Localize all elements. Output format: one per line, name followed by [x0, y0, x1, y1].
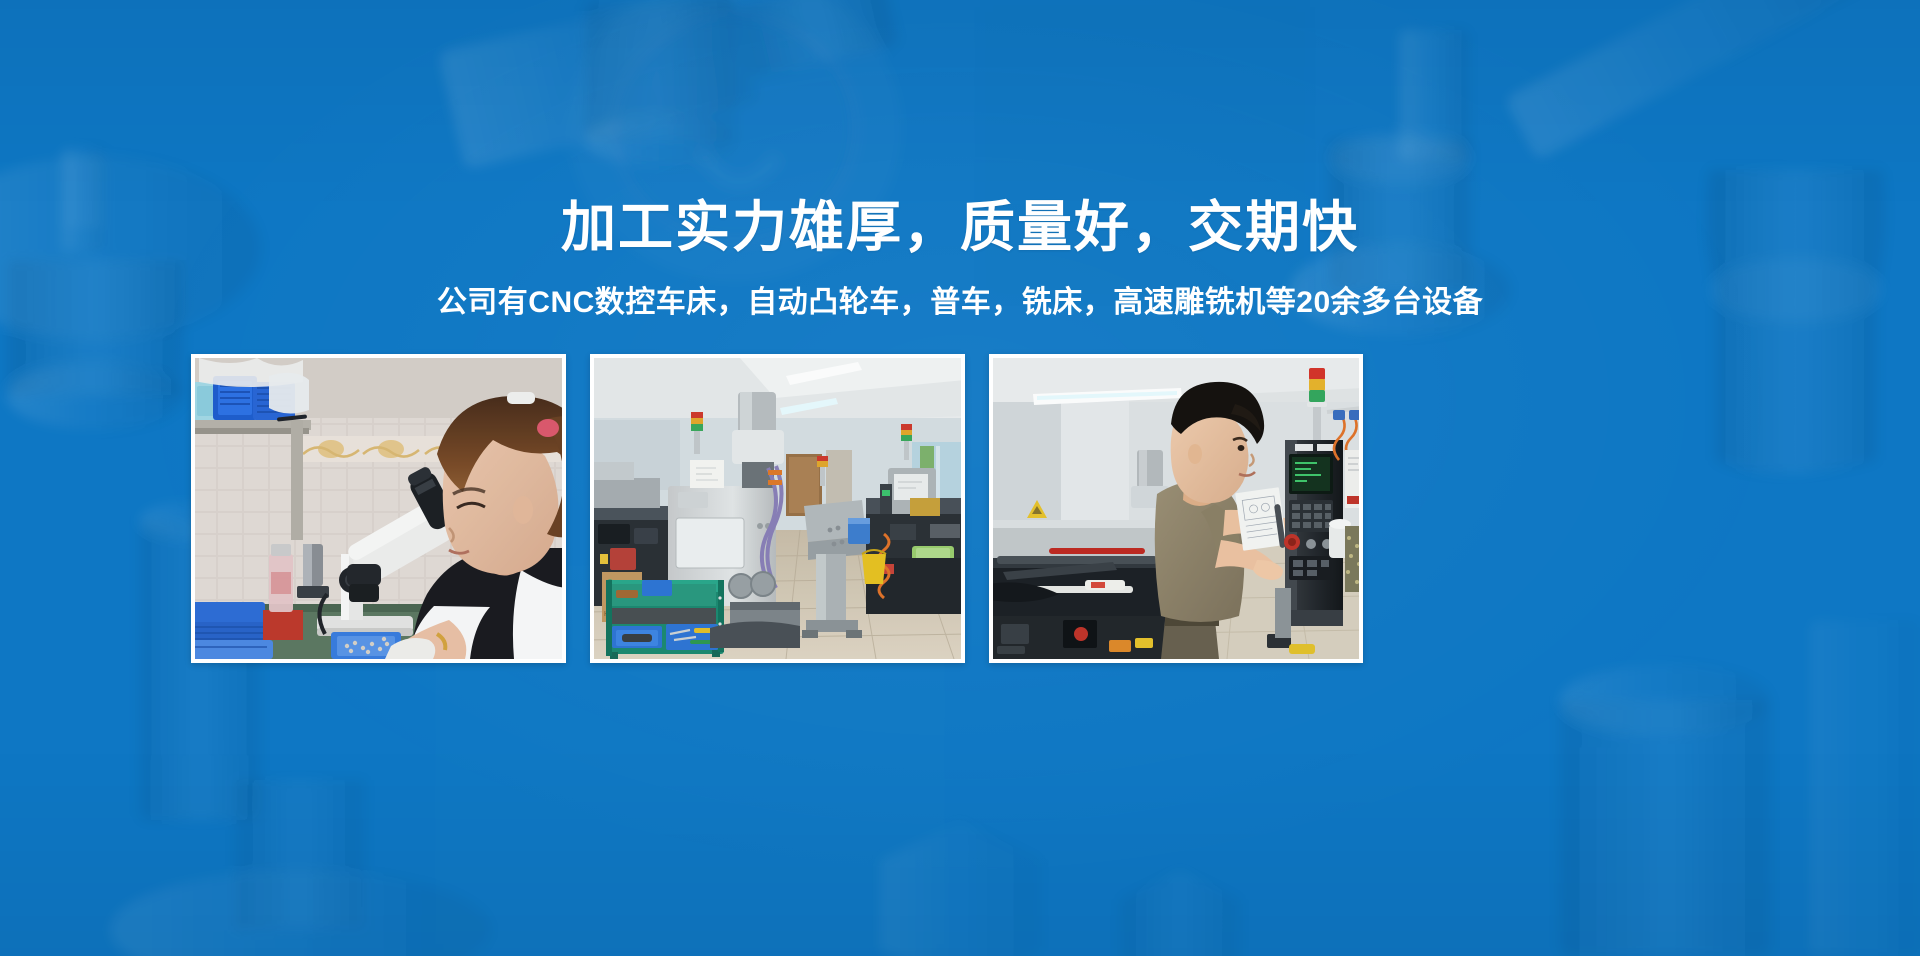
photo-card-3[interactable] — [989, 354, 1363, 663]
banner-content: 加工实力雄厚，质量好，交期快 公司有CNC数控车床，自动凸轮车，普车，铣床，高速… — [0, 0, 1920, 956]
photo-2-image: HWX — [594, 358, 961, 659]
photo-3-image — [993, 358, 1359, 659]
photo-card-2[interactable]: HWX — [590, 354, 965, 663]
page-title: 加工实力雄厚，质量好，交期快 — [0, 196, 1920, 259]
photo-1-image — [195, 358, 562, 659]
photo-card-1[interactable] — [191, 354, 566, 663]
page-subtitle: 公司有CNC数控车床，自动凸轮车，普车，铣床，高速雕铣机等20余多台设备 — [0, 277, 1920, 321]
photo-gallery: HWX — [191, 354, 1363, 663]
